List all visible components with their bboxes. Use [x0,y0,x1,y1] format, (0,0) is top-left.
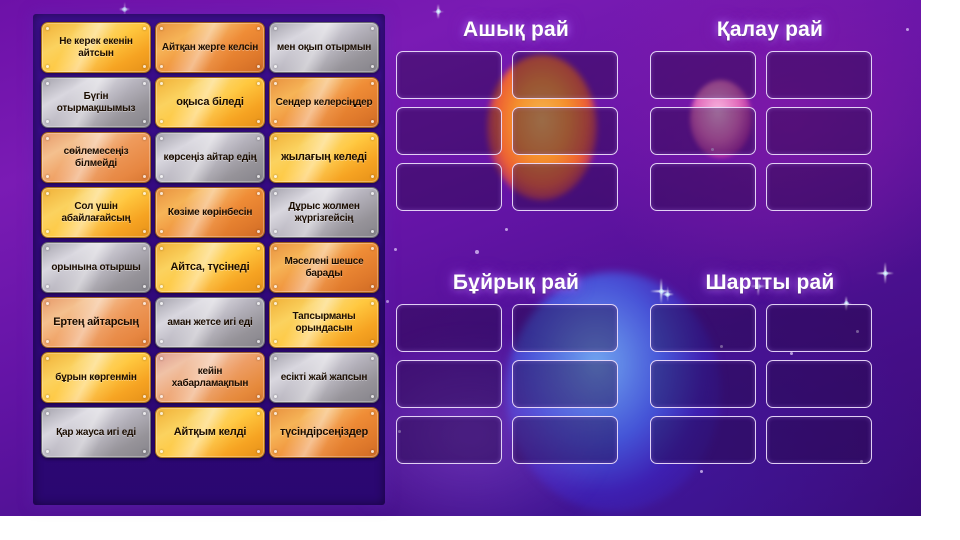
word-tile-label: Сендер келерсіңдер [276,97,373,109]
category-shartty-ray: Шартты рай [650,271,890,464]
word-tile[interactable]: Ертең айтарсың [41,297,151,348]
tile-rivet-icon [46,302,49,305]
drop-slot-group-qalau [650,51,890,211]
tile-rivet-icon [143,230,146,233]
drop-slot[interactable] [512,51,618,99]
tile-rivet-icon [46,395,49,398]
category-ashyk-ray: Ашық рай [396,18,636,211]
tile-rivet-icon [257,247,260,250]
tile-rivet-icon [371,137,374,140]
tile-rivet-icon [160,175,163,178]
drop-slot[interactable] [766,107,872,155]
word-tile[interactable]: Айтқан жерге келсін [155,22,265,73]
tile-rivet-icon [371,285,374,288]
category-title: Шартты рай [650,271,890,295]
word-tile-label: аман жетсе игі еді [167,317,252,329]
drop-slot[interactable] [766,163,872,211]
word-tile[interactable]: орынына отыршы [41,242,151,293]
word-tile[interactable]: Дұрыс жолмен жүргізгейсің [269,187,379,238]
word-tile[interactable]: аман жетсе игі еді [155,297,265,348]
drop-slot[interactable] [396,360,502,408]
tile-rivet-icon [143,175,146,178]
tile-rivet-icon [274,120,277,123]
tile-rivet-icon [160,395,163,398]
drop-slot[interactable] [512,360,618,408]
tile-rivet-icon [371,412,374,415]
tile-rivet-icon [257,230,260,233]
tile-rivet-icon [143,340,146,343]
tile-rivet-icon [160,192,163,195]
drop-slot[interactable] [396,304,502,352]
tile-rivet-icon [257,175,260,178]
word-tile-label: Дұрыс жолмен жүргізгейсің [274,201,374,224]
drop-slot[interactable] [512,107,618,155]
tile-rivet-icon [274,302,277,305]
tile-rivet-icon [143,82,146,85]
tile-rivet-icon [274,230,277,233]
tile-rivet-icon [143,395,146,398]
tile-rivet-icon [143,65,146,68]
tile-rivet-icon [257,450,260,453]
tile-rivet-icon [143,27,146,30]
tile-rivet-icon [46,285,49,288]
word-tile-label: түсіндірсеңіздер [280,426,368,439]
drop-slot[interactable] [650,416,756,464]
word-tile[interactable]: Бүгін отырмақшымыз [41,77,151,128]
word-tile-label: Ертең айтарсың [53,316,139,329]
word-tile-label: Көзіме көрінбесін [168,207,252,219]
drop-slot[interactable] [396,163,502,211]
tile-rivet-icon [46,175,49,178]
tile-rivet-icon [160,450,163,453]
category-title: Ашық рай [396,18,636,42]
tile-rivet-icon [257,27,260,30]
tile-rivet-icon [274,450,277,453]
word-tile-label: жылағың келеді [281,151,367,164]
drop-slot-group-buiryk [396,304,636,464]
drop-slot[interactable] [396,416,502,464]
tile-rivet-icon [257,137,260,140]
word-tile-label: кейін хабарламақпын [160,366,260,389]
tile-rivet-icon [160,27,163,30]
tile-rivet-icon [371,230,374,233]
word-tile-label: оқыса біледі [176,96,244,109]
tile-rivet-icon [257,82,260,85]
word-tile-label: Айтқым келді [174,426,246,439]
word-tile-label: сөйлемесеңіз білмейді [46,146,146,169]
tile-rivet-icon [46,230,49,233]
drop-slot[interactable] [512,304,618,352]
word-tile[interactable]: Тапсырманы орындасын [269,297,379,348]
drop-slot[interactable] [766,51,872,99]
word-tile-label: бұрын көргенмін [55,372,136,384]
tile-rivet-icon [46,192,49,195]
drop-slot[interactable] [396,51,502,99]
word-tile-label: есікті жай жапсын [281,372,367,384]
app-stage: Не керек екенін айтсынАйтқан жерге келсі… [0,0,960,540]
drop-slot[interactable] [396,107,502,155]
tile-rivet-icon [143,285,146,288]
word-tile-label: Бүгін отырмақшымыз [46,91,146,114]
drop-slot[interactable] [512,416,618,464]
tile-rivet-icon [274,27,277,30]
tile-rivet-icon [160,247,163,250]
word-tile[interactable]: көрсеңіз айтар едің [155,132,265,183]
tile-rivet-icon [160,302,163,305]
tile-rivet-icon [274,395,277,398]
drop-slot[interactable] [512,163,618,211]
word-tile-label: көрсеңіз айтар едің [164,152,257,164]
tile-rivet-icon [274,192,277,195]
tile-rivet-icon [160,340,163,343]
tile-rivet-icon [143,412,146,415]
tile-rivet-icon [257,120,260,123]
tile-rivet-icon [160,137,163,140]
word-tile[interactable]: Айтқым келді [155,407,265,458]
tile-rivet-icon [46,137,49,140]
word-tile[interactable]: сөйлемесеңіз білмейді [41,132,151,183]
drop-slot[interactable] [650,51,756,99]
tile-rivet-icon [274,412,277,415]
tile-rivet-icon [274,357,277,360]
tile-rivet-icon [160,285,163,288]
word-tile-label: мен оқып отырмын [277,42,371,54]
tile-rivet-icon [274,82,277,85]
word-tile-label: Айтса, түсінеді [171,261,250,274]
tile-rivet-icon [143,302,146,305]
word-tile[interactable]: Сендер келерсіңдер [269,77,379,128]
tile-rivet-icon [257,192,260,195]
word-tile[interactable]: Сол үшін абайлағайсың [41,187,151,238]
tile-rivet-icon [143,192,146,195]
tile-rivet-icon [46,65,49,68]
category-title: Қалау рай [650,18,890,42]
tile-rivet-icon [160,412,163,415]
tile-rivet-icon [160,357,163,360]
tile-rivet-icon [160,230,163,233]
drop-slot-group-ashyk [396,51,636,211]
drop-slot[interactable] [650,360,756,408]
word-tile[interactable]: Көзіме көрінбесін [155,187,265,238]
category-buiryk-ray: Бұйрық рай [396,271,636,464]
tile-rivet-icon [46,340,49,343]
drop-slot[interactable] [766,360,872,408]
tile-rivet-icon [274,175,277,178]
tile-rivet-icon [371,450,374,453]
word-tile-label: Сол үшін абайлағайсың [46,201,146,224]
tile-rivet-icon [46,27,49,30]
tile-rivet-icon [371,175,374,178]
tile-rivet-icon [371,65,374,68]
word-tile[interactable]: жылағың келеді [269,132,379,183]
tile-rivet-icon [257,285,260,288]
drop-slot[interactable] [766,416,872,464]
tile-rivet-icon [274,65,277,68]
tile-rivet-icon [46,120,49,123]
tile-rivet-icon [46,450,49,453]
tile-rivet-icon [257,412,260,415]
drop-slot[interactable] [650,163,756,211]
tile-rivet-icon [143,450,146,453]
tile-rivet-icon [143,247,146,250]
tile-rivet-icon [371,340,374,343]
word-tile-label: Тапсырманы орындасын [274,311,374,334]
tile-rivet-icon [371,395,374,398]
tile-rivet-icon [371,192,374,195]
word-tile-board: Не керек екенін айтсынАйтқан жерге келсі… [33,14,385,505]
drop-slot[interactable] [650,107,756,155]
tile-rivet-icon [274,340,277,343]
category-qalau-ray: Қалау рай [650,18,890,211]
tile-rivet-icon [274,247,277,250]
drop-slot-group-shartty [650,304,890,464]
tile-rivet-icon [371,82,374,85]
tile-rivet-icon [160,82,163,85]
word-tile[interactable]: бұрын көргенмін [41,352,151,403]
tile-rivet-icon [257,340,260,343]
tile-rivet-icon [143,137,146,140]
category-area: Ашық рай Қалау рай Бұйрық рай Шартты рай [392,14,908,510]
word-tile[interactable]: Не керек екенін айтсын [41,22,151,73]
word-tile-label: Айтқан жерге келсін [162,42,258,54]
tile-rivet-icon [371,27,374,30]
category-title: Бұйрық рай [396,271,636,295]
star-dot-icon [386,300,389,303]
drop-slot[interactable] [766,304,872,352]
tile-rivet-icon [143,357,146,360]
word-tile[interactable]: мен оқып отырмын [269,22,379,73]
tile-rivet-icon [46,82,49,85]
tile-rivet-icon [143,120,146,123]
word-tile[interactable]: есікті жай жапсын [269,352,379,403]
tile-rivet-icon [371,302,374,305]
word-tile-grid: Не керек екенін айтсынАйтқан жерге келсі… [41,22,379,458]
tile-rivet-icon [274,137,277,140]
word-tile[interactable]: Айтса, түсінеді [155,242,265,293]
word-tile-label: Қар жауса игі еді [56,427,136,439]
tile-rivet-icon [371,357,374,360]
tile-rivet-icon [46,412,49,415]
word-tile[interactable]: Қар жауса игі еді [41,407,151,458]
word-tile-label: орынына отыршы [51,262,140,274]
tile-rivet-icon [257,65,260,68]
word-tile[interactable]: оқыса біледі [155,77,265,128]
tile-rivet-icon [46,357,49,360]
tile-rivet-icon [274,285,277,288]
word-tile[interactable]: түсіндірсеңіздер [269,407,379,458]
word-tile-label: Мәселені шешсе барады [274,256,374,279]
tile-rivet-icon [257,302,260,305]
tile-rivet-icon [160,120,163,123]
tile-rivet-icon [371,120,374,123]
word-tile[interactable]: Мәселені шешсе барады [269,242,379,293]
drop-slot[interactable] [650,304,756,352]
tile-rivet-icon [257,395,260,398]
tile-rivet-icon [257,357,260,360]
tile-rivet-icon [371,247,374,250]
tile-rivet-icon [46,247,49,250]
tile-rivet-icon [160,65,163,68]
word-tile[interactable]: кейін хабарламақпын [155,352,265,403]
word-tile-label: Не керек екенін айтсын [46,36,146,59]
